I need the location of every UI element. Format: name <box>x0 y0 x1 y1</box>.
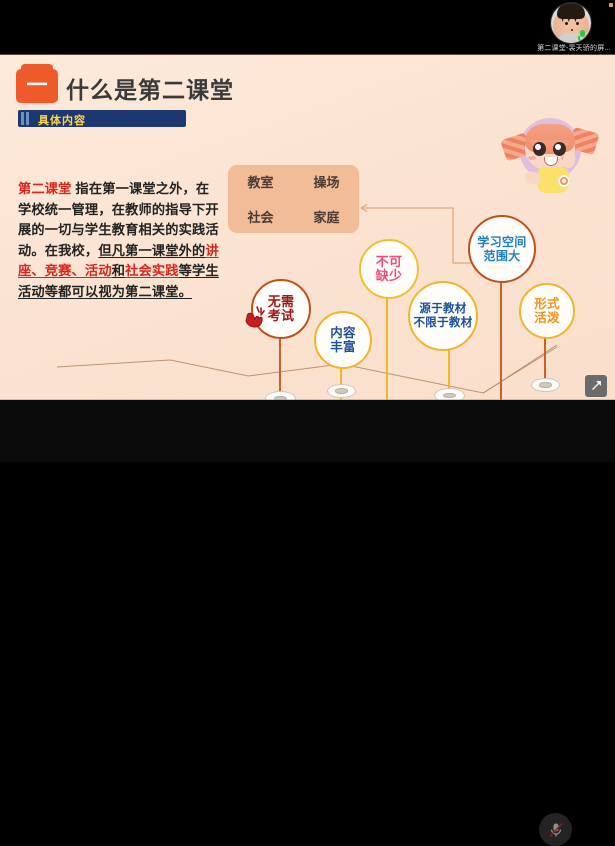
bubble-rich-content[interactable]: 内容 丰富 <box>314 311 372 369</box>
slide-canvas[interactable]: 一 什么是第二课堂 具体内容 第二课堂 指在第一课堂之外，在学校统一管理，在教师… <box>0 55 615 400</box>
screen-share-window: 第二课堂-裴天骄的屏... 一 什么是第二课堂 具体内容 第二课堂 指在第一课堂… <box>0 0 615 462</box>
mascot-candy-character <box>497 112 601 202</box>
bubble-lively-format-line2: 活泼 <box>534 311 560 325</box>
stem-3 <box>386 282 388 400</box>
bubble-indispensable[interactable]: 不可 缺少 <box>359 239 419 299</box>
pen-annotate-button[interactable] <box>585 375 607 397</box>
avatar-eye-left <box>565 22 568 25</box>
meeting-bottom-bar <box>0 400 615 462</box>
avatar-eye-right <box>576 22 579 25</box>
base-node-6 <box>531 378 560 392</box>
bubble-textbook[interactable]: 源于教材 不限于教材 <box>408 281 478 351</box>
bubble-no-exam-line2: 考试 <box>268 309 295 323</box>
avatar-hair <box>557 3 585 19</box>
bubble-learning-space-line1: 学习空间 <box>477 235 526 249</box>
bubble-textbook-line1: 源于教材 <box>414 302 473 316</box>
bubble-rich-content-line2: 丰富 <box>330 340 356 354</box>
bubble-indispensable-line2: 缺少 <box>376 269 403 283</box>
recording-indicator-icon <box>609 3 613 7</box>
avatar-nose <box>571 29 573 31</box>
stem-5 <box>500 266 502 400</box>
participant-tile[interactable]: 第二课堂-裴天骄的屏... <box>537 2 609 52</box>
pen-icon <box>589 379 603 393</box>
bubble-no-exam-line1: 无需 <box>268 295 295 309</box>
bubble-learning-space-line2: 范围大 <box>477 249 526 263</box>
mic-muted-icon <box>547 821 565 839</box>
mic-active-icon <box>578 30 587 42</box>
bubble-lively-format[interactable]: 形式 活泼 <box>519 283 575 339</box>
bubble-rich-content-line1: 内容 <box>330 326 356 340</box>
click-hand-cursor-icon <box>243 305 269 329</box>
mic-mute-button[interactable] <box>539 813 572 846</box>
meeting-top-bar: 第二课堂-裴天骄的屏... <box>0 0 615 55</box>
base-node-2 <box>327 384 356 398</box>
participant-name-label: 第二课堂-裴天骄的屏... <box>535 43 613 53</box>
stage-top-edge <box>0 54 615 55</box>
bubble-textbook-line2: 不限于教材 <box>414 316 473 330</box>
bubble-lively-format-line1: 形式 <box>534 297 560 311</box>
stem-1 <box>279 331 281 397</box>
participant-avatar <box>551 3 591 43</box>
bubble-learning-space[interactable]: 学习空间 范围大 <box>468 215 536 283</box>
bubble-indispensable-line1: 不可 <box>376 255 403 269</box>
